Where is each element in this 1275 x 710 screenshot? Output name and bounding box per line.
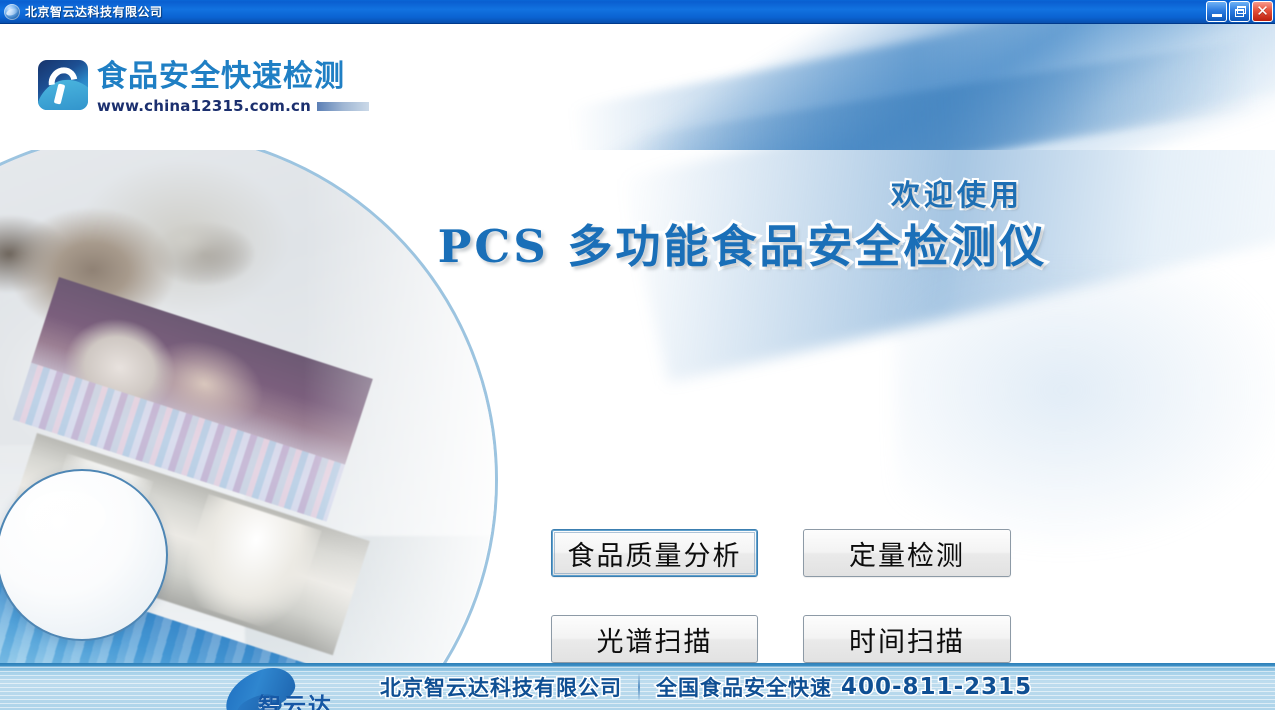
app-footer: 智云达 北京智云达科技有限公司 全国食品安全快速 400-811-2315 [0, 663, 1275, 710]
app-header: 食品安全快速检测 www.china12315.com.cn [0, 24, 1275, 150]
page-title: PCS 多功能食品安全检测仪 [0, 210, 1275, 275]
spectrum-scan-button[interactable]: 光谱扫描 [551, 615, 758, 663]
magnifier-lens-icon [0, 469, 168, 641]
main-menu-buttons[interactable]: 食品质量分析 定量检测 光谱扫描 时间扫描 [551, 529, 1011, 663]
time-scan-button[interactable]: 时间扫描 [803, 615, 1011, 663]
minimize-icon [1212, 14, 1222, 17]
footer-logo-text: 智云达 [258, 687, 333, 710]
quantitative-detection-button[interactable]: 定量检测 [803, 529, 1011, 577]
brand-title: 食品安全快速检测 [97, 60, 369, 94]
header-swoosh-decoration-2 [571, 24, 1275, 150]
zhiyunda-brush-icon: 智云达 [216, 663, 364, 710]
brand-url-bar-decoration [317, 102, 369, 111]
footer-divider [638, 672, 640, 702]
restore-icon-back [1237, 6, 1246, 14]
stage-glow-decoration [895, 270, 1275, 570]
footer-content: 智云达 北京智云达科技有限公司 全国食品安全快速 400-811-2315 [216, 663, 1032, 710]
window-controls[interactable]: ✕ [1206, 1, 1273, 22]
footer-company-name: 北京智云达科技有限公司 [380, 672, 622, 702]
globe-icon [4, 4, 20, 20]
header-swoosh-decoration-1 [531, 24, 1275, 150]
brand-url: www.china12315.com.cn [97, 97, 311, 115]
window-title: 北京智云达科技有限公司 [25, 3, 163, 20]
brand-url-row: www.china12315.com.cn [97, 97, 369, 115]
header-swoosh-decoration-3 [633, 40, 1256, 150]
footer-hotline: 全国食品安全快速 400-811-2315 [656, 672, 1032, 702]
brand-logo-text: 食品安全快速检测 www.china12315.com.cn [97, 60, 369, 115]
footer-hotline-number: 400-811-2315 [841, 674, 1032, 700]
footer-hotline-label: 全国食品安全快速 [656, 672, 832, 702]
main-stage: 欢迎使用 PCS 多功能食品安全检测仪 食品质量分析 定量检测 光谱扫描 时间扫… [0, 150, 1275, 663]
window-title-bar[interactable]: 北京智云达科技有限公司 ✕ [0, 0, 1275, 24]
close-icon: ✕ [1256, 5, 1269, 19]
restore-button[interactable] [1229, 1, 1250, 22]
close-button[interactable]: ✕ [1252, 1, 1273, 22]
brand-logo: 食品安全快速检测 www.china12315.com.cn [38, 60, 369, 115]
food-quality-analysis-button[interactable]: 食品质量分析 [551, 529, 758, 577]
wave-logo-icon [38, 60, 88, 110]
minimize-button[interactable] [1206, 1, 1227, 22]
welcome-text: 欢迎使用 [0, 172, 1275, 214]
